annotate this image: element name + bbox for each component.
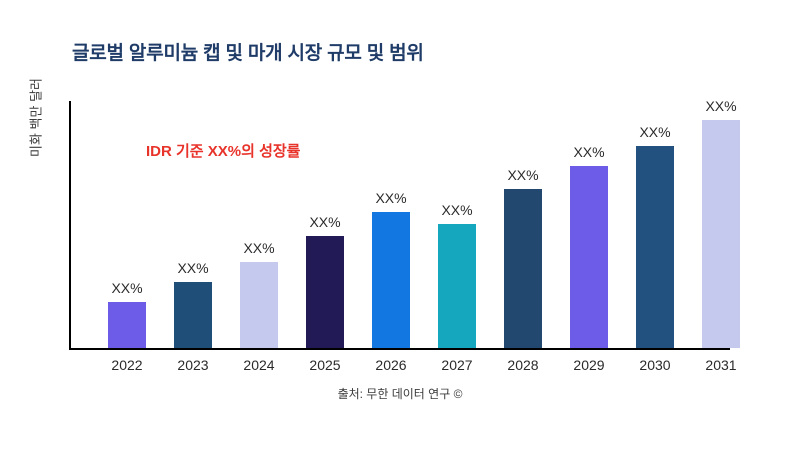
bar-value-label: XX% [295,214,355,230]
bar-value-label: XX% [97,280,157,296]
x-tick-2028: 2028 [488,357,558,373]
x-axis-line [69,348,730,350]
bar-2025[interactable] [306,236,344,348]
x-tick-2031: 2031 [686,357,756,373]
x-tick-2023: 2023 [158,357,228,373]
x-tick-2027: 2027 [422,357,492,373]
x-tick-2026: 2026 [356,357,426,373]
bar-2031[interactable] [702,120,740,348]
x-tick-2022: 2022 [92,357,162,373]
bar-2029[interactable] [570,166,608,348]
bar-2027[interactable] [438,224,476,348]
bar-value-label: XX% [361,190,421,206]
bar-2028[interactable] [504,189,542,348]
source-note: 출처: 무한 데이터 연구 © [0,385,800,402]
bar-2026[interactable] [372,212,410,348]
plot-area: XX% XX% XX% XX% XX% XX% XX% XX% [69,101,780,350]
chart-title: 글로벌 알루미늄 캡 및 마개 시장 규모 및 범위 [72,38,424,65]
bar-value-label: XX% [559,144,619,160]
bar-2024[interactable] [240,262,278,348]
bar-value-label: XX% [163,260,223,276]
bar-2022[interactable] [108,302,146,348]
x-tick-2030: 2030 [620,357,690,373]
x-tick-2025: 2025 [290,357,360,373]
x-tick-2029: 2029 [554,357,624,373]
x-tick-2024: 2024 [224,357,294,373]
bar-2030[interactable] [636,146,674,348]
bar-value-label: XX% [493,167,553,183]
y-axis-line [69,101,71,350]
bar-value-label: XX% [427,202,487,218]
y-axis-label: 미화 백만 달러 [26,58,45,178]
bar-value-label: XX% [229,240,289,256]
bar-value-label: XX% [625,124,685,140]
bar-value-label: XX% [691,98,751,114]
bar-2023[interactable] [174,282,212,348]
bar-chart: 글로벌 알루미늄 캡 및 마개 시장 규모 및 범위 미화 백만 달러 IDR … [0,0,800,450]
